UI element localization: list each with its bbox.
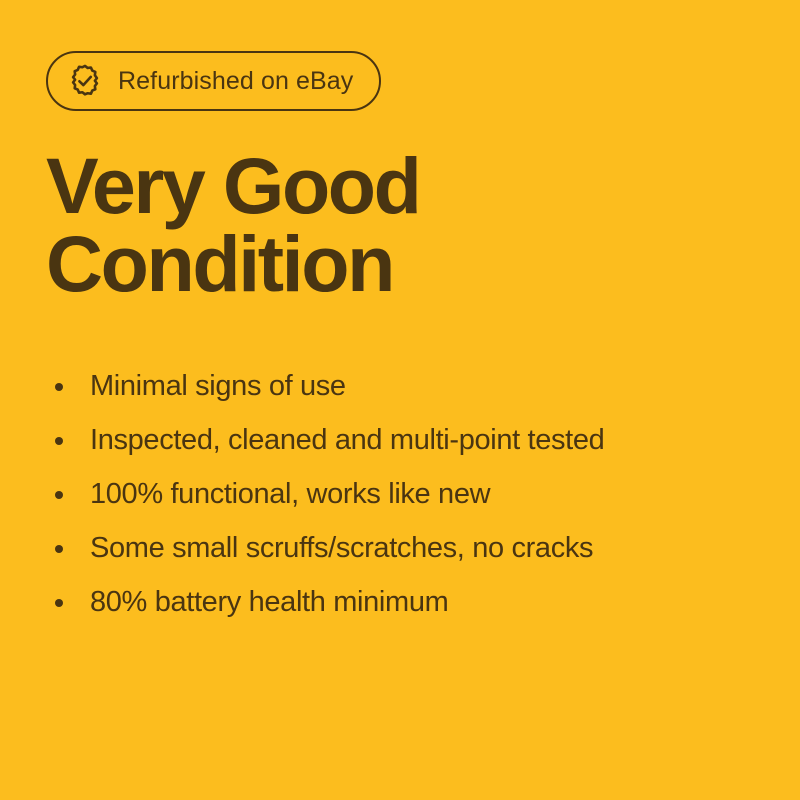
refurbished-badge[interactable]: Refurbished on eBay: [46, 51, 381, 111]
list-item: Minimal signs of use: [46, 360, 754, 414]
list-item-label: Inspected, cleaned and multi-point teste…: [90, 426, 604, 455]
list-item: 100% functional, works like new: [46, 468, 754, 522]
list-item: Inspected, cleaned and multi-point teste…: [46, 414, 754, 468]
list-item: 80% battery health minimum: [46, 576, 754, 630]
list-item-label: Some small scruffs/scratches, no cracks: [90, 534, 593, 563]
list-item-label: 100% functional, works like new: [90, 480, 490, 509]
bullet-dot-icon: [55, 545, 63, 553]
page-title-line-2: Condition: [46, 225, 606, 303]
bullet-dot-icon: [55, 437, 63, 445]
bullet-dot-icon: [55, 599, 63, 607]
verified-rosette-check-icon: [68, 64, 102, 98]
page-title-line-1: Very Good: [46, 147, 606, 225]
refurbished-condition-card: Refurbished on eBay Very Good Condition …: [0, 0, 800, 800]
list-item-label: Minimal signs of use: [90, 372, 346, 401]
condition-feature-list: Minimal signs of use Inspected, cleaned …: [46, 360, 754, 630]
bullet-dot-icon: [55, 491, 63, 499]
page-title: Very Good Condition: [46, 147, 606, 303]
list-item: Some small scruffs/scratches, no cracks: [46, 522, 754, 576]
refurbished-badge-label: Refurbished on eBay: [118, 69, 353, 94]
bullet-dot-icon: [55, 383, 63, 391]
list-item-label: 80% battery health minimum: [90, 588, 448, 617]
